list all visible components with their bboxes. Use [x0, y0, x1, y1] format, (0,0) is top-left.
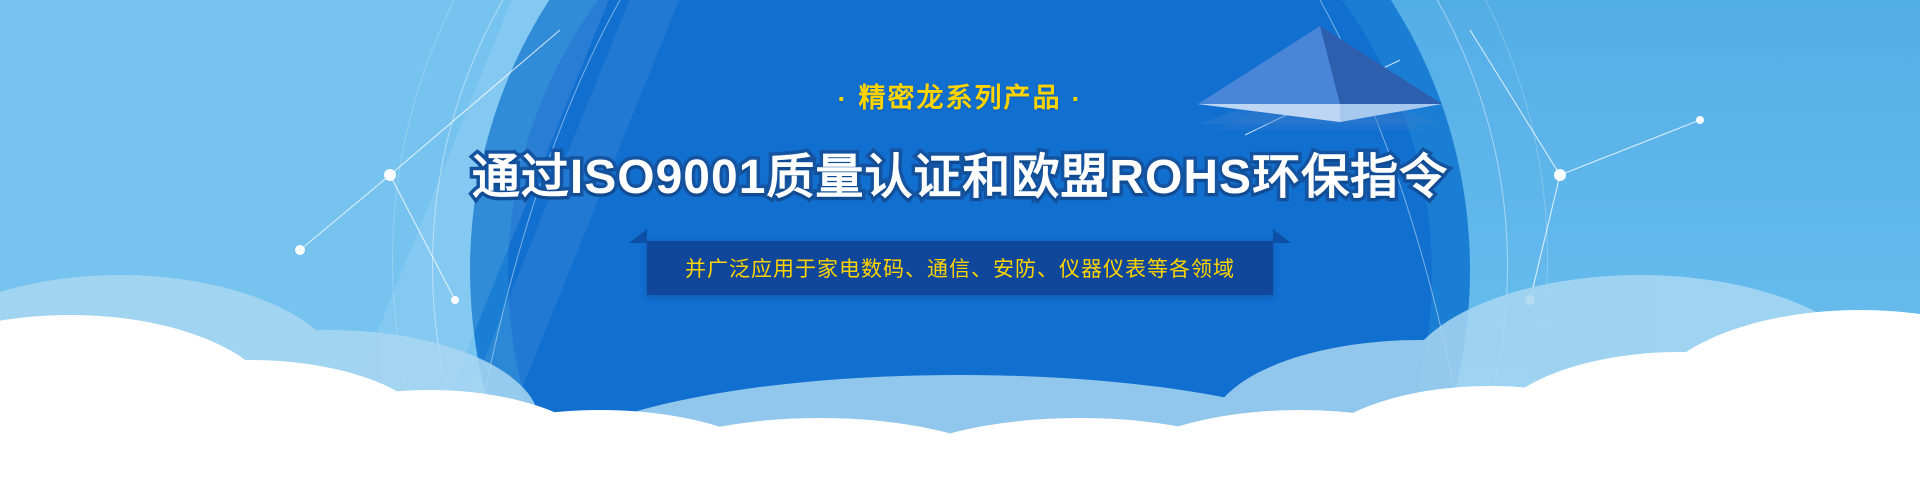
- ribbon-tail-left: [629, 229, 647, 243]
- headline-text: 通过ISO9001质量认证和欧盟ROHS环保指令: [472, 137, 1448, 207]
- ribbon-text: 并广泛应用于家电数码、通信、安防、仪器仪表等各领域: [647, 241, 1273, 295]
- ribbon-tail-right: [1273, 229, 1291, 243]
- eyebrow-dot-right: ·: [1072, 84, 1083, 115]
- ribbon-banner: 并广泛应用于家电数码、通信、安防、仪器仪表等各领域: [647, 241, 1273, 295]
- eyebrow-dot-left: ·: [838, 84, 849, 115]
- eyebrow-label: 精密龙系列产品: [859, 83, 1062, 113]
- promo-banner: ·精密龙系列产品· 通过ISO9001质量认证和欧盟ROHS环保指令 并广泛应用…: [0, 0, 1920, 480]
- eyebrow-text: ·精密龙系列产品·: [828, 76, 1093, 115]
- pyramid-icon: [1190, 12, 1450, 142]
